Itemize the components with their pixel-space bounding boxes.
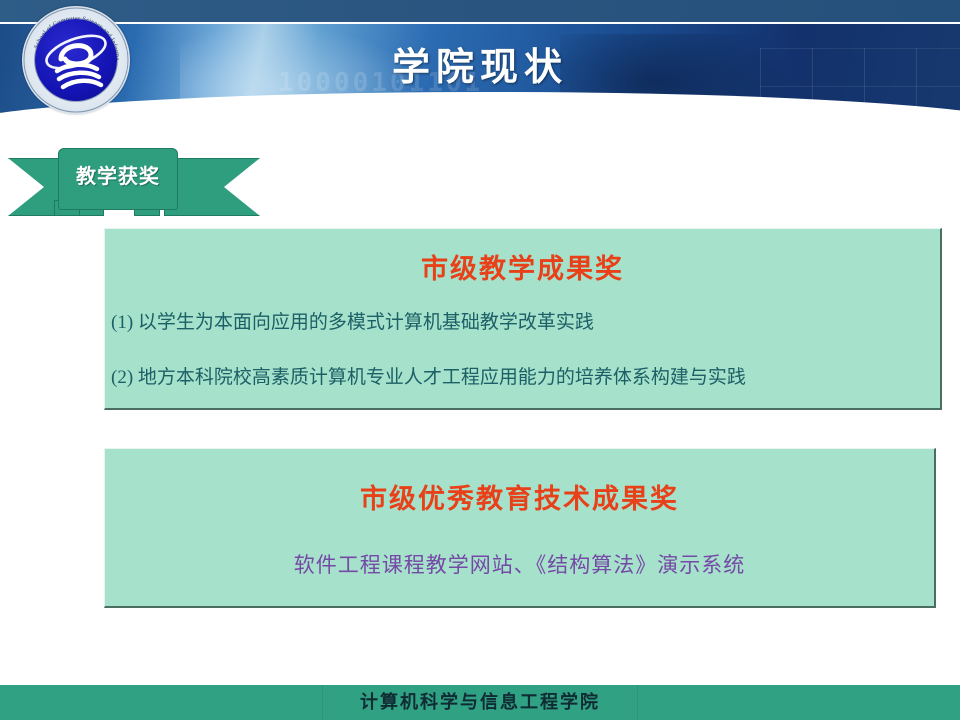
school-seal-logo: School of Computer Science and Informati… xyxy=(22,6,130,114)
slide-header: 10000101101 10111100101101010010 学院现状 Sc… xyxy=(0,0,960,140)
page-title: 学院现状 xyxy=(0,36,960,91)
award-box-subtitle: 软件工程课程教学网站、《结构算法》演示系统 xyxy=(105,549,934,579)
header-top-band xyxy=(0,0,960,22)
award-box-edtech-achievement: 市级优秀教育技术成果奖 软件工程课程教学网站、《结构算法》演示系统 xyxy=(104,448,936,608)
ribbon-label: 教学获奖 xyxy=(58,148,178,206)
award-item: (2) 地方本科院校高素质计算机专业人才工程应用能力的培养体系构建与实践 xyxy=(111,362,746,389)
slide-footer: 计算机科学与信息工程学院 xyxy=(0,685,960,720)
award-box-title: 市级教学成果奖 xyxy=(105,247,940,286)
seal-inner-disc xyxy=(35,19,117,101)
seal-e-emblem xyxy=(35,19,117,101)
ribbon-right-tail xyxy=(164,158,260,216)
award-item: (1) 以学生为本面向应用的多模式计算机基础教学改革实践 xyxy=(111,307,594,334)
slide-canvas: 10000101101 10111100101101010010 学院现状 Sc… xyxy=(0,0,960,720)
award-box-title: 市级优秀教育技术成果奖 xyxy=(105,477,934,516)
award-box-teaching-achievement: 市级教学成果奖 (1) 以学生为本面向应用的多模式计算机基础教学改革实践 (2)… xyxy=(104,228,942,410)
header-white-swoosh-secondary xyxy=(0,108,960,140)
section-ribbon-banner: 教学获奖 xyxy=(8,148,258,216)
footer-label: 计算机科学与信息工程学院 xyxy=(0,685,960,720)
